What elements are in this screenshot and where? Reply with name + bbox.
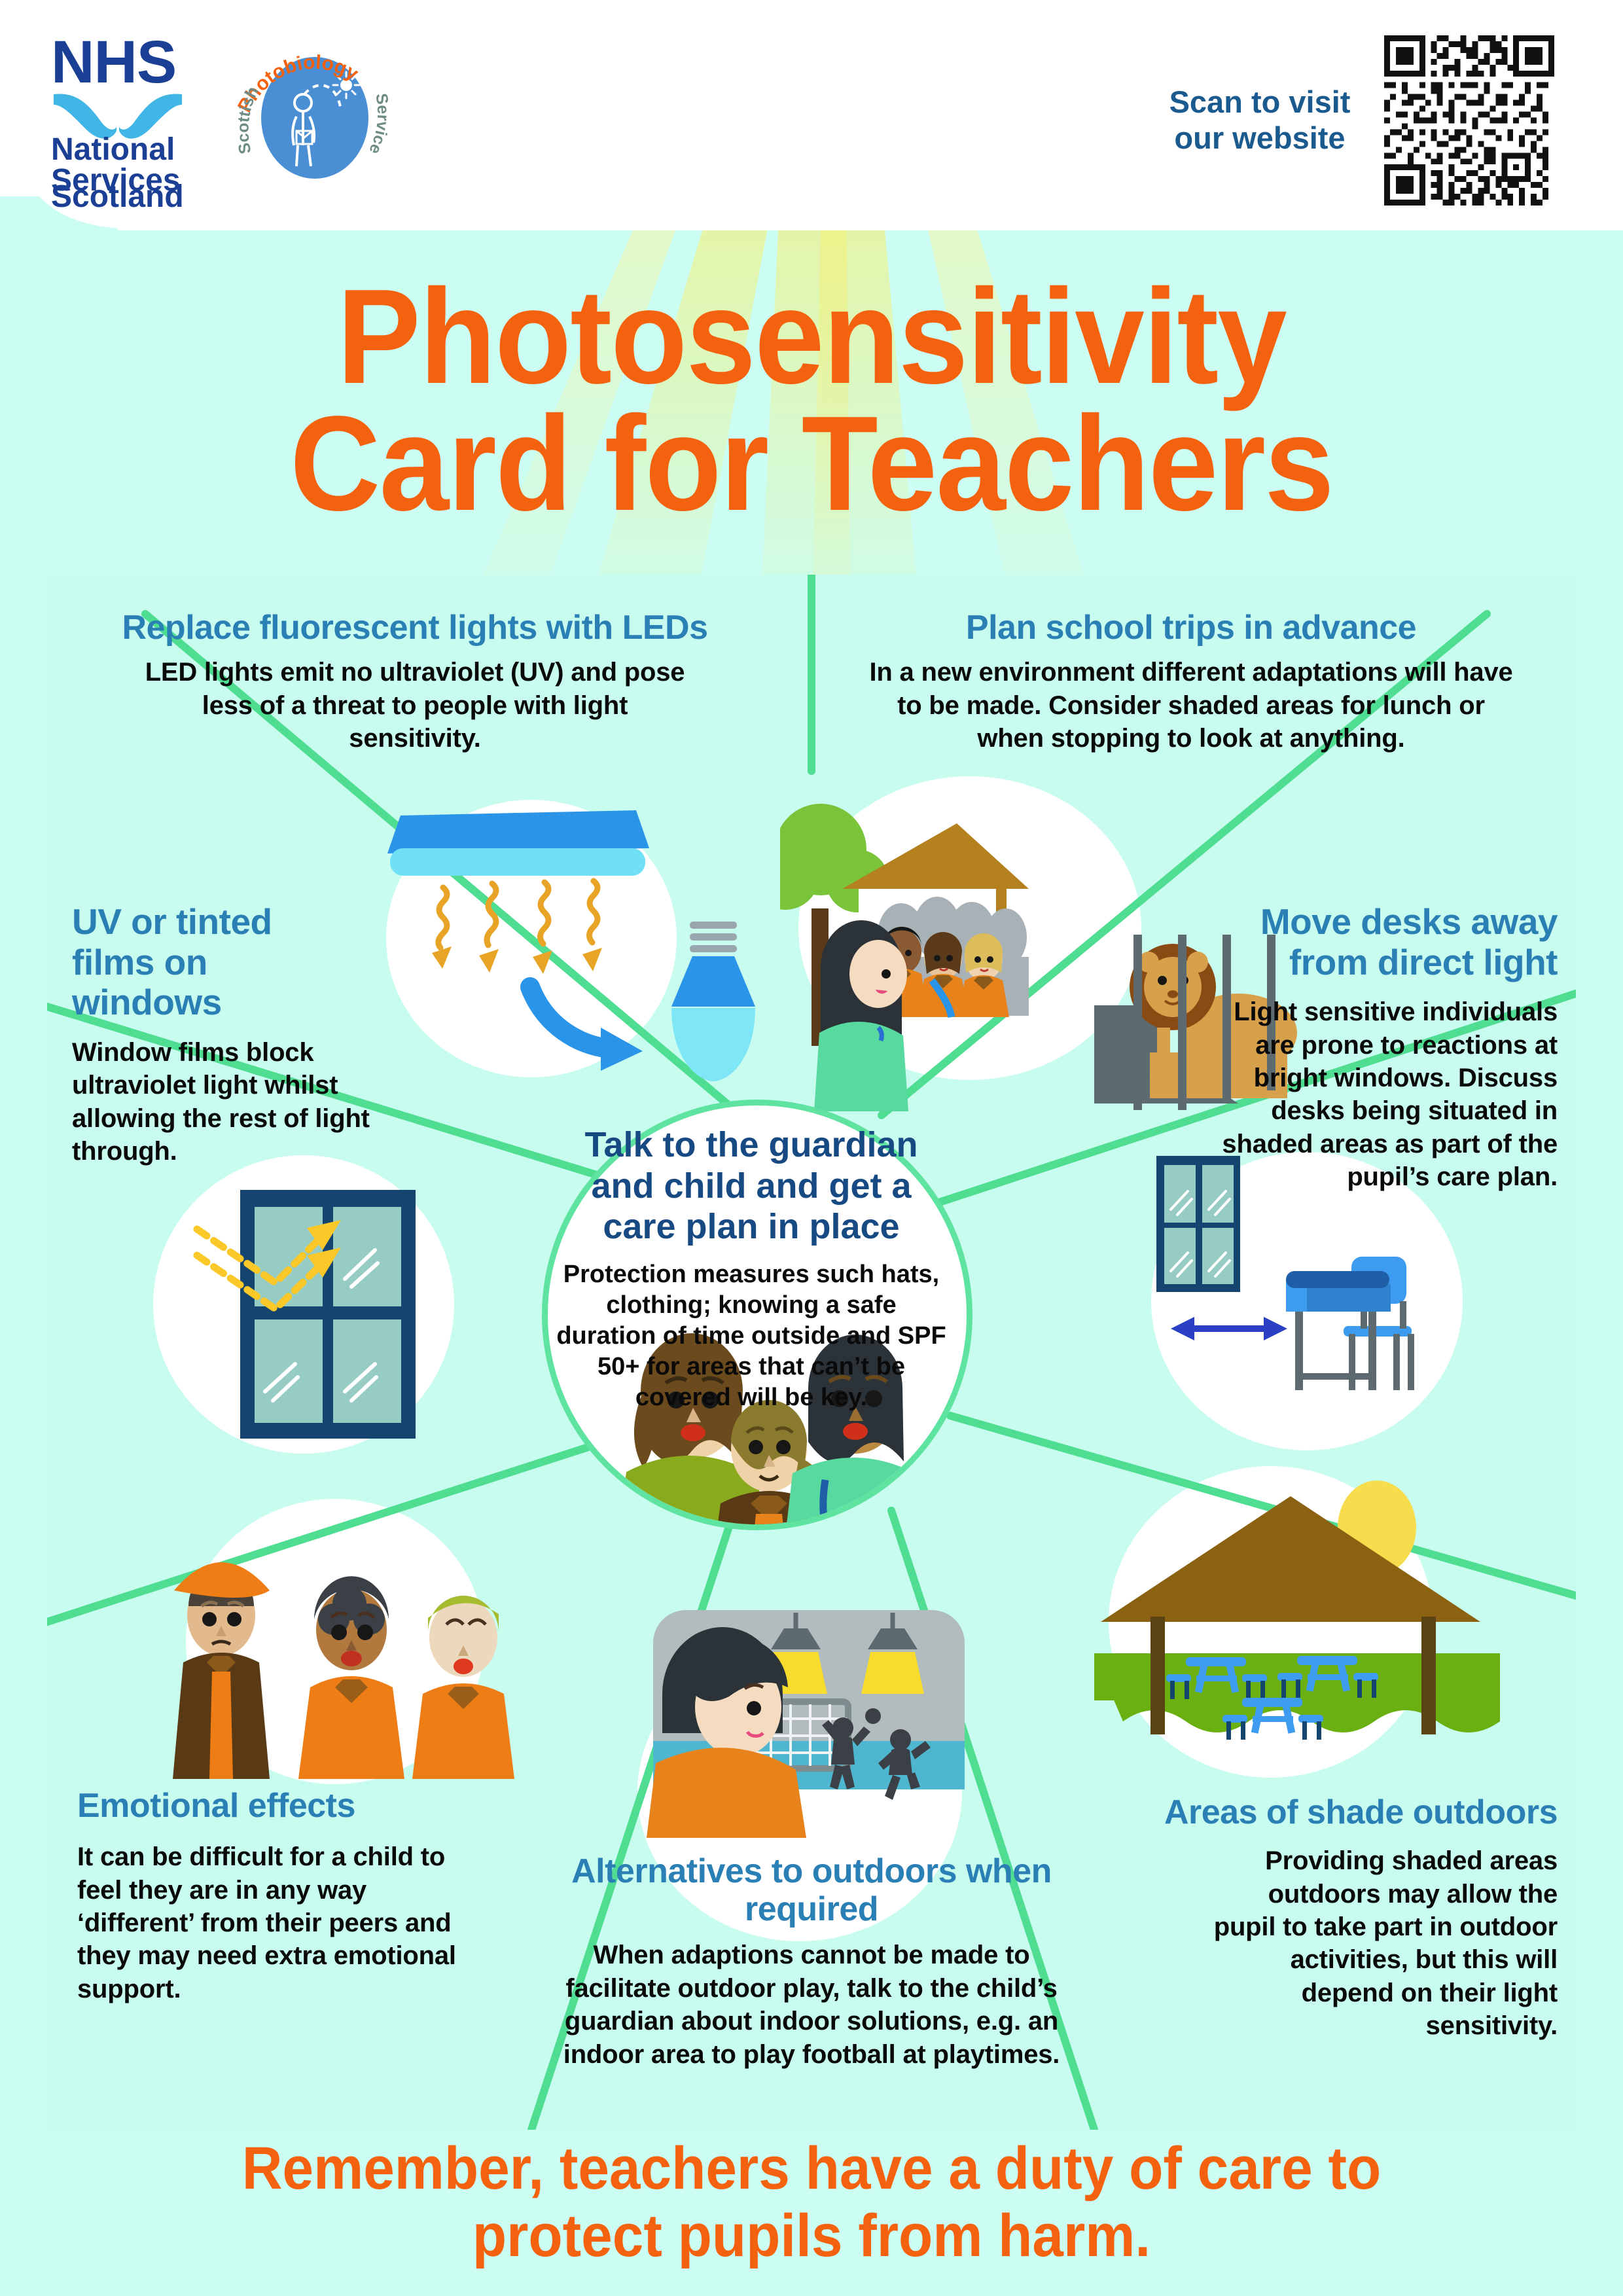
section-areas-of-shade: Areas of shade outdoors Providing shaded…: [1126, 1793, 1558, 2043]
nhs-acronym: NHS: [51, 31, 176, 96]
scottish-arc-word: Scottish: [234, 84, 262, 156]
section-plan-trips: Plan school trips in advance In a new en…: [844, 609, 1538, 755]
footer-line-1: Remember, teachers have a duty of care t…: [57, 2135, 1566, 2202]
section-alternatives-outdoors-heading: Alternatives to outdoors when required: [569, 1852, 1054, 1928]
children-emotional-effects-illustration: [139, 1491, 544, 1779]
centre-text-block: Talk to the guardian and child and get a…: [554, 1124, 949, 1413]
section-areas-of-shade-body: Providing shaded areas outdoors may allo…: [1204, 1844, 1558, 2042]
section-emotional-effects-body: It can be difficult for a child to feel …: [77, 1840, 470, 2005]
uv-window-film-illustration: [155, 1157, 456, 1465]
section-alternatives-outdoors-body: When adaptions cannot be made to facilit…: [540, 1939, 1083, 2071]
section-alternatives-outdoors: Alternatives to outdoors when required W…: [524, 1852, 1099, 2071]
section-move-desks-heading: Move desks away from direct light: [1204, 902, 1558, 982]
section-replace-lights: Replace fluorescent lights with LEDs LED…: [63, 609, 767, 755]
section-areas-of-shade-heading: Areas of shade outdoors: [1126, 1793, 1558, 1831]
centre-body: Protection measures such hats, clothing;…: [554, 1259, 949, 1414]
section-move-desks: Move desks away from direct light Light …: [1204, 902, 1558, 1194]
section-replace-lights-heading: Replace fluorescent lights with LEDs: [63, 609, 767, 647]
title-line-2: Card for Teachers: [57, 401, 1566, 528]
outdoor-shade-shelter-illustration: [1094, 1465, 1500, 1772]
nhs-logo: NHS National Services Scotland: [51, 31, 211, 195]
nhs-line1: National: [51, 132, 175, 167]
scan-to-visit-label: Scan to visit our website: [1152, 84, 1368, 156]
footer-message: Remember, teachers have a duty of care t…: [57, 2135, 1566, 2270]
indoor-football-illustration: [623, 1576, 990, 1838]
section-uv-films-heading: UV or tinted films on windows: [72, 902, 288, 1023]
centre-heading: Talk to the guardian and child and get a…: [554, 1124, 949, 1247]
qr-code[interactable]: [1384, 33, 1554, 208]
footer-line-2: protect pupils from harm.: [57, 2202, 1566, 2270]
section-uv-films: UV or tinted films on windows Window fil…: [72, 902, 412, 1168]
section-plan-trips-heading: Plan school trips in advance: [844, 609, 1538, 647]
section-replace-lights-body: LED lights emit no ultraviolet (UV) and …: [143, 656, 687, 755]
scan-line-2: our website: [1152, 120, 1368, 156]
nhs-line3: Scotland: [51, 179, 184, 215]
page-title: Photosensitivity Card for Teachers: [57, 274, 1566, 527]
led-replacement-illustration: [381, 791, 800, 1098]
section-move-desks-body: Light sensitive individuals are prone to…: [1204, 996, 1558, 1193]
section-uv-films-body: Window films block ultraviolet light whi…: [72, 1036, 412, 1168]
scan-line-1: Scan to visit: [1152, 84, 1368, 120]
service-arc-word: Service: [365, 92, 392, 157]
section-plan-trips-body: In a new environment different adaptatio…: [864, 656, 1518, 755]
section-emotional-effects: Emotional effects It can be difficult fo…: [77, 1787, 470, 2005]
poster-root: NHS National Services Scotland: [0, 0, 1623, 2296]
photobiology-service-logo: Photobiology Scottish Service: [226, 14, 402, 204]
section-emotional-effects-heading: Emotional effects: [77, 1787, 470, 1825]
